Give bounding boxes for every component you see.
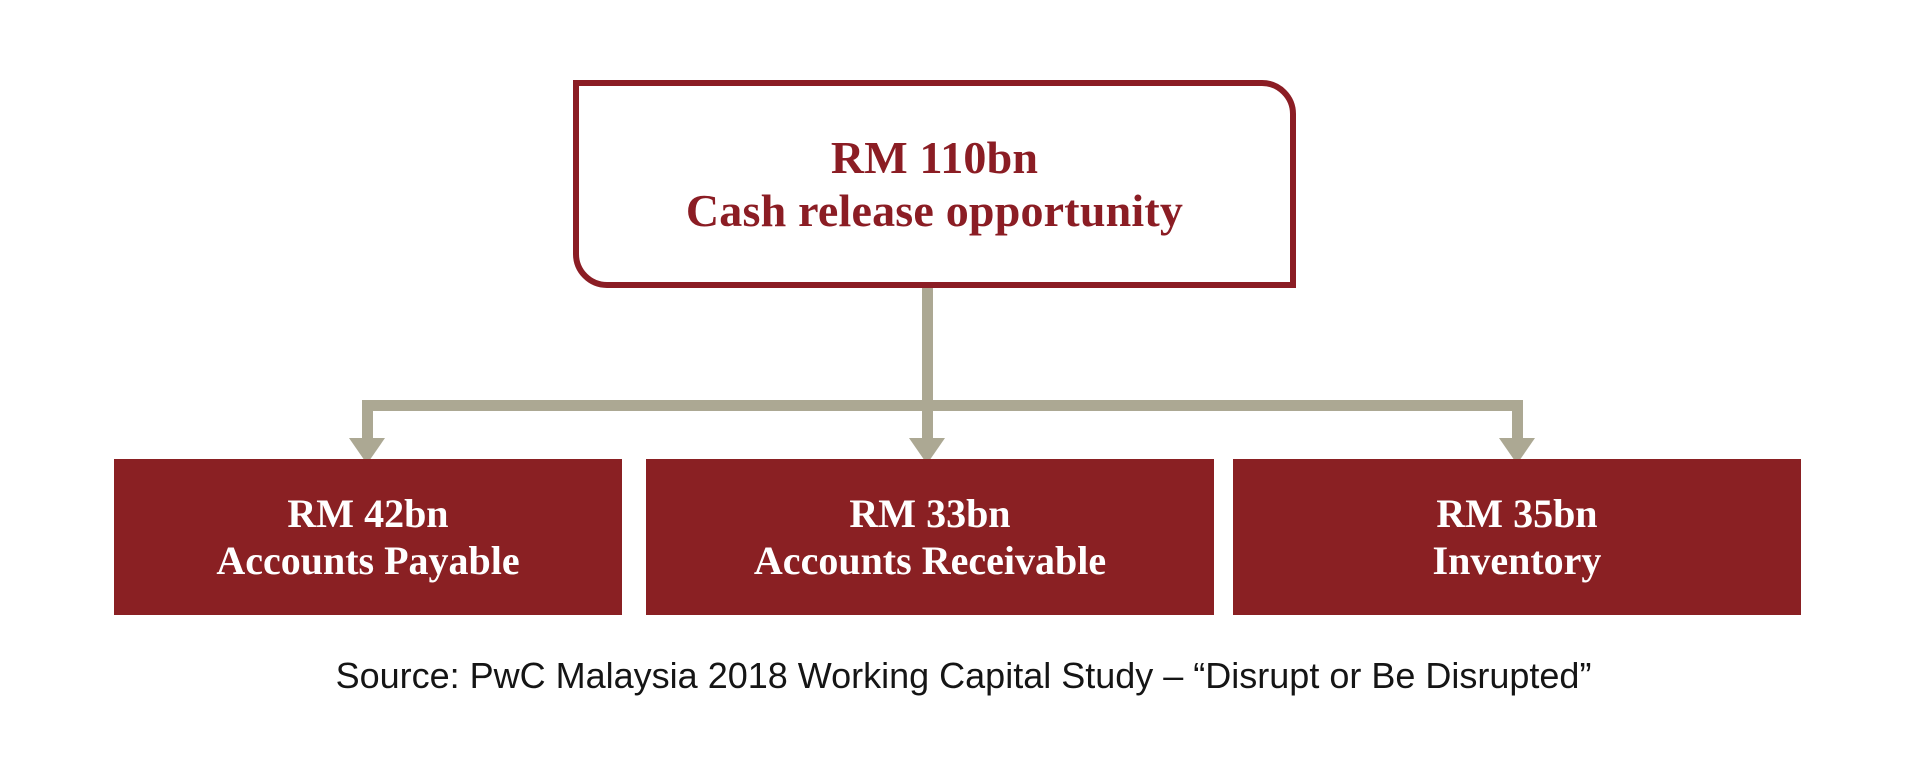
child-node-accounts-payable[interactable]: RM 42bn Accounts Payable xyxy=(114,459,622,615)
root-node-label: Cash release opportunity xyxy=(686,184,1183,237)
root-node-cash-release-opportunity[interactable]: RM 110bn Cash release opportunity xyxy=(573,80,1296,288)
source-caption: Source: PwC Malaysia 2018 Working Capita… xyxy=(0,655,1927,697)
child-node-label: Accounts Payable xyxy=(216,537,519,584)
child-node-inventory[interactable]: RM 35bn Inventory xyxy=(1233,459,1801,615)
child-node-amount: RM 33bn xyxy=(849,490,1010,537)
child-node-accounts-receivable[interactable]: RM 33bn Accounts Receivable xyxy=(646,459,1214,615)
child-node-amount: RM 35bn xyxy=(1436,490,1597,537)
connector-stem-vertical xyxy=(922,285,933,440)
connector-drop-left xyxy=(362,400,373,440)
diagram-canvas: RM 110bn Cash release opportunity RM 42b… xyxy=(0,0,1927,770)
child-node-label: Accounts Receivable xyxy=(754,537,1106,584)
connector-drop-right xyxy=(1512,400,1523,440)
connector-horizontal-bus xyxy=(362,400,1523,411)
root-node-amount: RM 110bn xyxy=(831,131,1038,184)
child-node-amount: RM 42bn xyxy=(287,490,448,537)
child-node-label: Inventory xyxy=(1433,537,1602,584)
